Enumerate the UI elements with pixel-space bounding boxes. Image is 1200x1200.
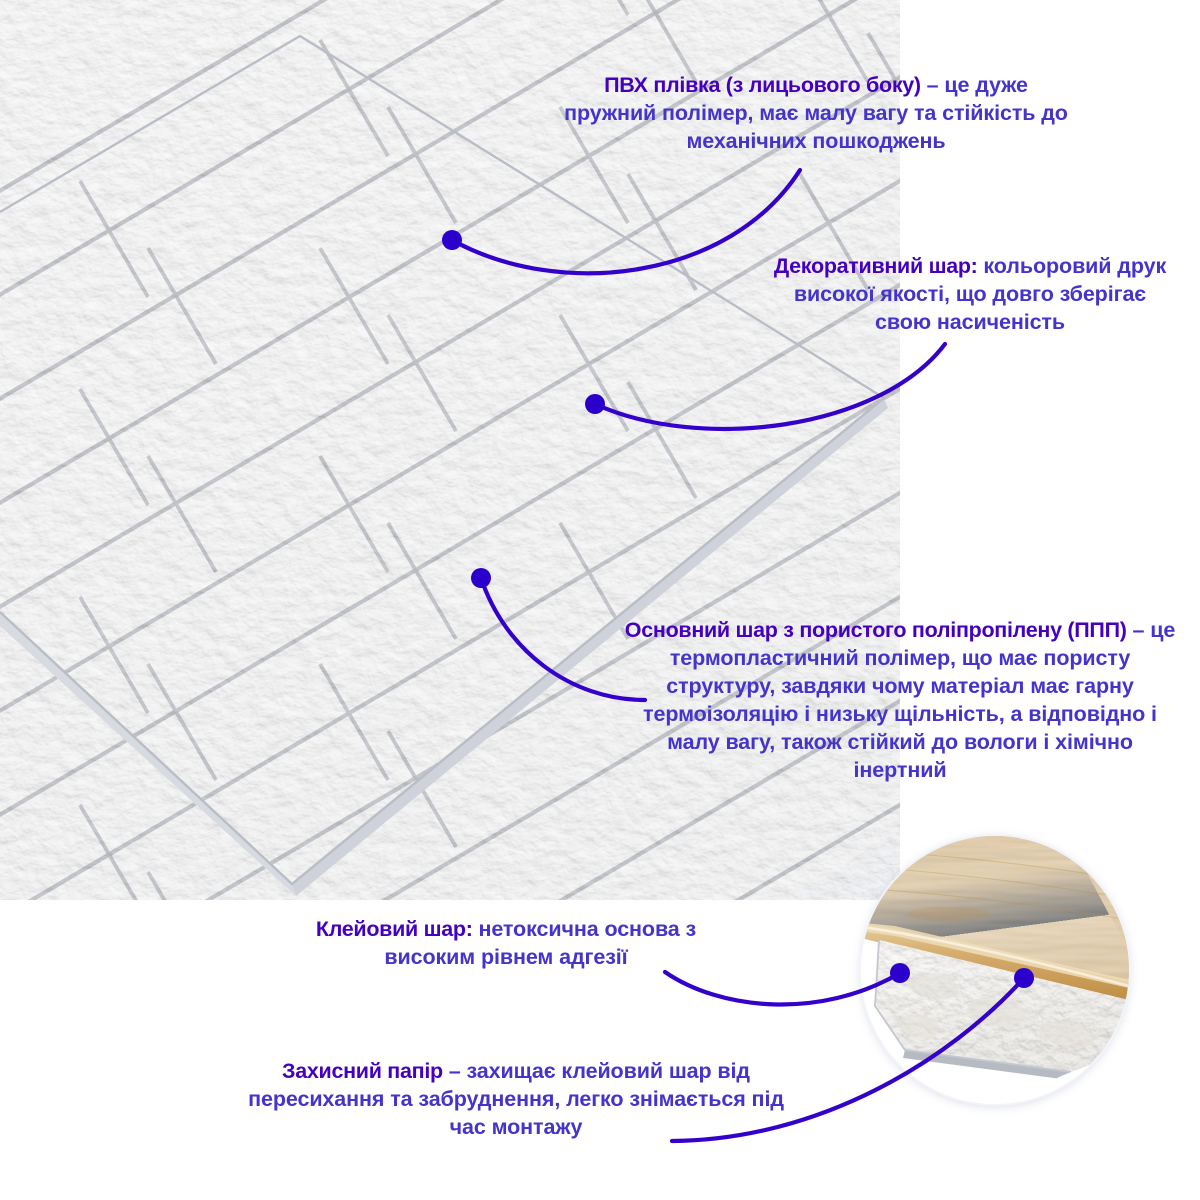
callout-decorative-layer: Декоративний шар: кольоровий друк високо… — [770, 253, 1170, 337]
leader-lines-layer — [0, 0, 1200, 1200]
leader-dot-protective-paper — [1014, 968, 1034, 988]
callout-decorative-title: Декоративний шар: — [774, 254, 978, 278]
leader-dot-ppp — [471, 568, 491, 588]
leader-line-pvc-film — [452, 170, 800, 273]
callout-protective-paper: Захисний папір – захищає клейовий шар ві… — [246, 1058, 786, 1142]
infographic-canvas: ПВХ плівка (з лицьового боку) – це дуже … — [0, 0, 1200, 1200]
callout-ppp-title: Основний шар з пористого поліпропілену (… — [625, 618, 1127, 642]
leader-dot-pvc-film — [442, 230, 462, 250]
callout-ppp-body: – це термопластичний полімер, що має пор… — [643, 618, 1175, 782]
leader-line-adhesive — [665, 972, 900, 1005]
leader-dot-decorative — [585, 394, 605, 414]
callout-paper-title: Захисний папір — [282, 1059, 443, 1083]
leader-dot-adhesive — [890, 963, 910, 983]
callout-adhesive-layer: Клейовий шар: нетоксична основа з високи… — [296, 916, 716, 972]
callout-pvc-film: ПВХ плівка (з лицьового боку) – це дуже … — [556, 72, 1076, 156]
callout-pvc-film-title: ПВХ плівка (з лицьового боку) — [604, 73, 921, 97]
leader-line-decorative — [595, 344, 945, 429]
callout-adhesive-title: Клейовий шар: — [316, 917, 473, 941]
callout-ppp-core-layer: Основний шар з пористого поліпропілену (… — [620, 617, 1180, 785]
